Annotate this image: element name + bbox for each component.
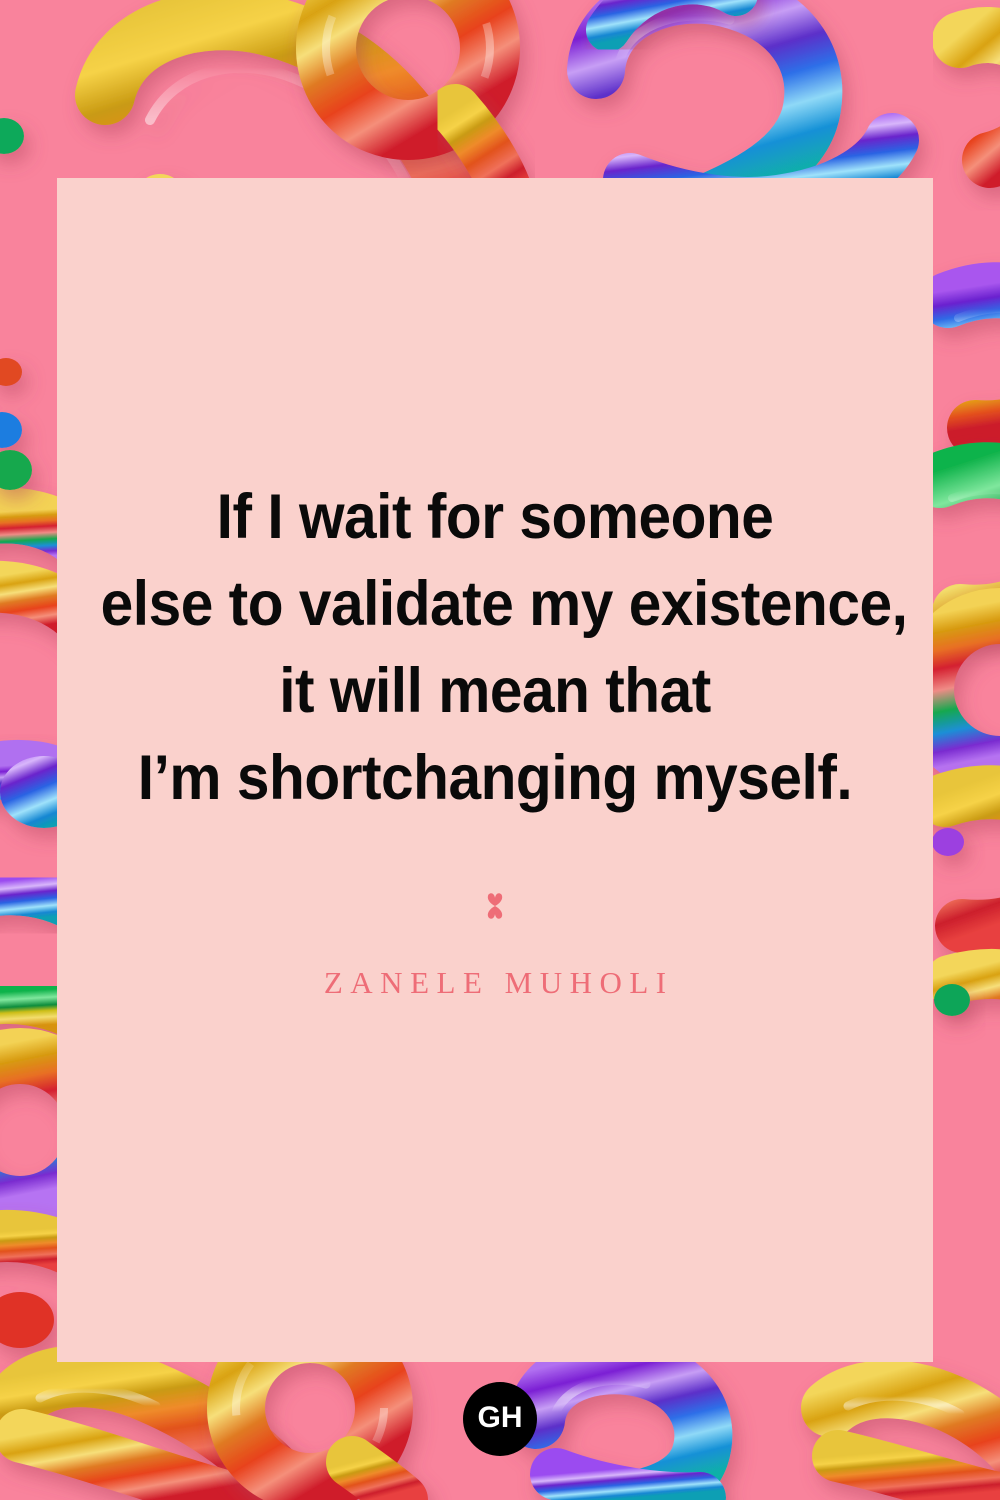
quote-card: If I wait for someone else to validate m… <box>57 178 933 1362</box>
gh-logo-text: GH <box>478 1403 523 1433</box>
quote-line-3: it will mean that <box>101 648 890 735</box>
quote-text: If I wait for someone else to validate m… <box>57 474 933 822</box>
quote-line-1: If I wait for someone <box>101 474 890 561</box>
quote-line-2: else to validate my existence, <box>101 561 890 648</box>
quote-card-image: If I wait for someone else to validate m… <box>0 0 1000 1500</box>
quote-attribution: ZANELE MUHOLI <box>57 965 933 1001</box>
quote-line-4: I’m shortchanging myself. <box>101 735 890 822</box>
gh-logo[interactable]: GH <box>463 1382 537 1456</box>
four-petal-flower-icon <box>478 889 512 923</box>
